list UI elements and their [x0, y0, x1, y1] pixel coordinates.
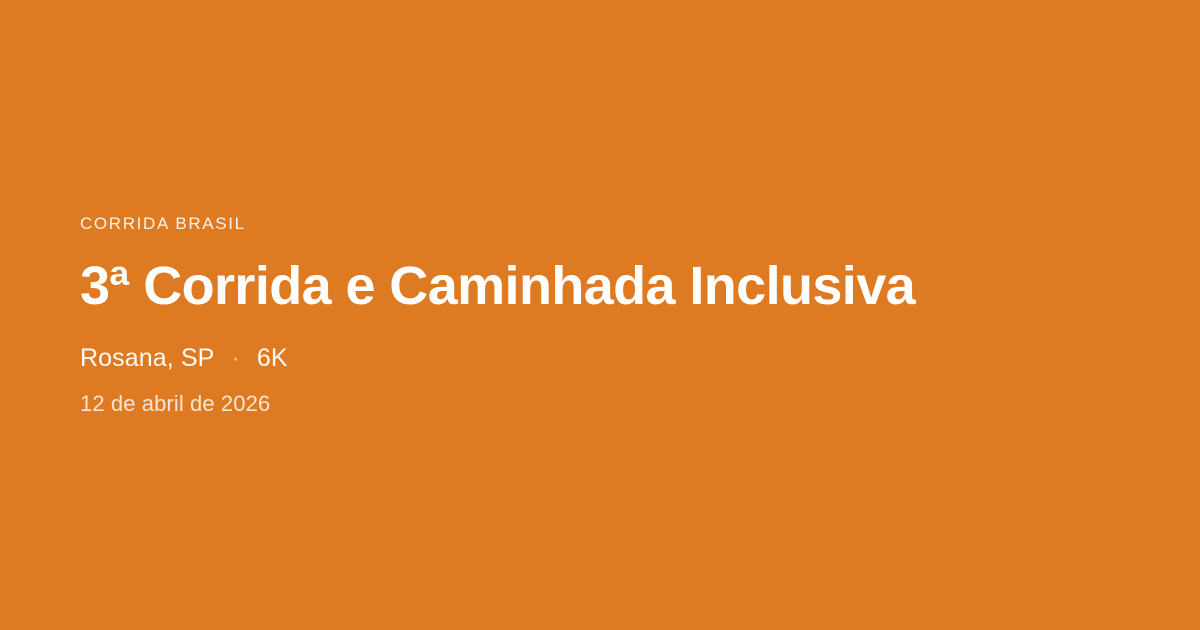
event-date: 12 de abril de 2026: [80, 393, 1120, 415]
brand-eyebrow: CORRIDA BRASIL: [80, 215, 1120, 232]
event-og-card: CORRIDA BRASIL 3ª Corrida e Caminhada In…: [0, 0, 1200, 630]
event-distance: 6K: [257, 346, 288, 371]
event-location: Rosana, SP: [80, 346, 214, 371]
event-meta-line: Rosana, SP · 6K: [80, 346, 1120, 371]
meta-separator-dot: ·: [226, 346, 244, 371]
event-title: 3ª Corrida e Caminhada Inclusiva: [80, 258, 1120, 315]
event-content-block: CORRIDA BRASIL 3ª Corrida e Caminhada In…: [80, 215, 1120, 414]
